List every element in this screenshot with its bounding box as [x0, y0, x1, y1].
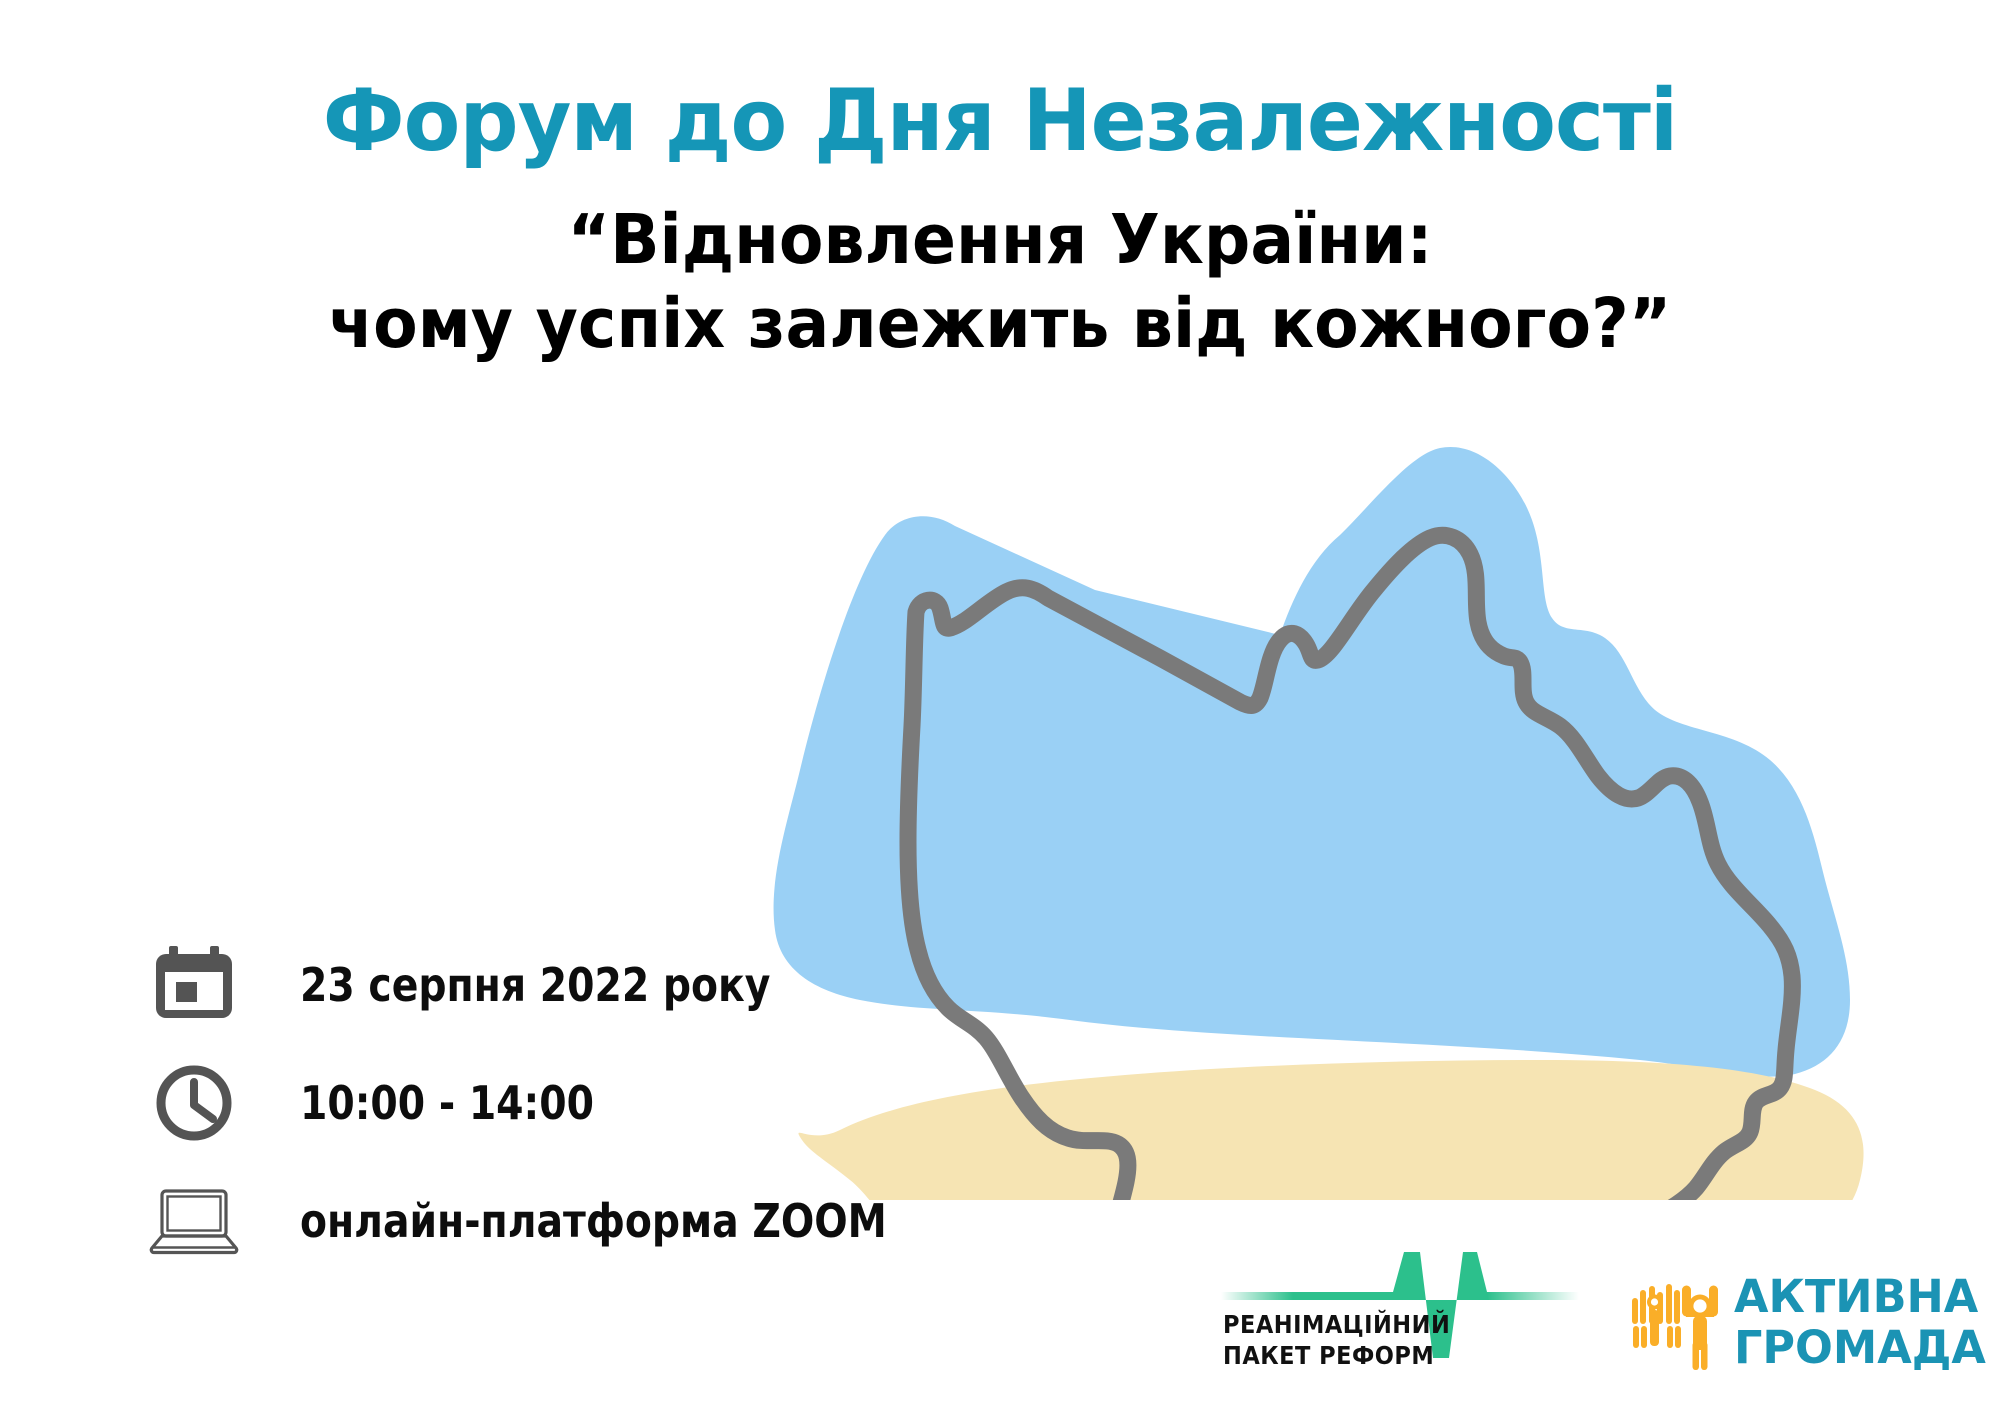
- event-details-list: 23 серпня 2022 року 10:00 - 14:00 онлайн…: [148, 926, 918, 1280]
- rpr-line-2: ПАКЕТ РЕФОРМ: [1223, 1341, 1450, 1372]
- detail-row-platform: онлайн-платформа ZOOM: [148, 1162, 918, 1280]
- subtitle-line-1: “Відновлення України:: [60, 198, 1940, 282]
- event-date-text: 23 серпня 2022 року: [300, 958, 770, 1012]
- ag-line-2: ГРОМАДА: [1734, 1319, 1986, 1370]
- active-community-logo[interactable]: АКТИВНА ГРОМАДА: [1630, 1278, 1980, 1388]
- event-time-text: 10:00 - 14:00: [300, 1076, 594, 1130]
- calendar-icon: [148, 939, 240, 1031]
- pulse-baseline-left: [1221, 1292, 1381, 1300]
- event-platform-text: онлайн-платформа ZOOM: [300, 1194, 887, 1248]
- rpr-logo-text: РЕАНІМАЦІЙНИЙ ПАКЕТ РЕФОРМ: [1223, 1310, 1450, 1371]
- active-community-wordmark: АКТИВНА ГРОМАДА: [1734, 1274, 1986, 1370]
- ukraine-map-illustration: [740, 440, 2000, 1200]
- rpr-line-1: РЕАНІМАЦІЙНИЙ: [1223, 1310, 1450, 1341]
- detail-row-time: 10:00 - 14:00: [148, 1044, 918, 1162]
- pulse-baseline-right: [1487, 1292, 1579, 1300]
- subtitle-line-2: чому успіх залежить від кожного?”: [60, 282, 1940, 366]
- detail-row-date: 23 серпня 2022 року: [148, 926, 918, 1044]
- page-subtitle: “Відновлення України: чому успіх залежит…: [60, 164, 1940, 366]
- headline-block: Форум до Дня Незалежності “Відновлення У…: [0, 0, 2000, 366]
- reanimation-package-of-reforms-logo[interactable]: РЕАНІМАЦІЙНИЙ ПАКЕТ РЕФОРМ: [1205, 1248, 1595, 1398]
- page-title: Форум до Дня Незалежності: [40, 0, 1960, 164]
- clock-icon: [148, 1057, 240, 1149]
- raised-hands-people-icon: [1630, 1280, 1726, 1372]
- ag-line-1: АКТИВНА: [1734, 1274, 1986, 1319]
- laptop-icon: [148, 1175, 240, 1267]
